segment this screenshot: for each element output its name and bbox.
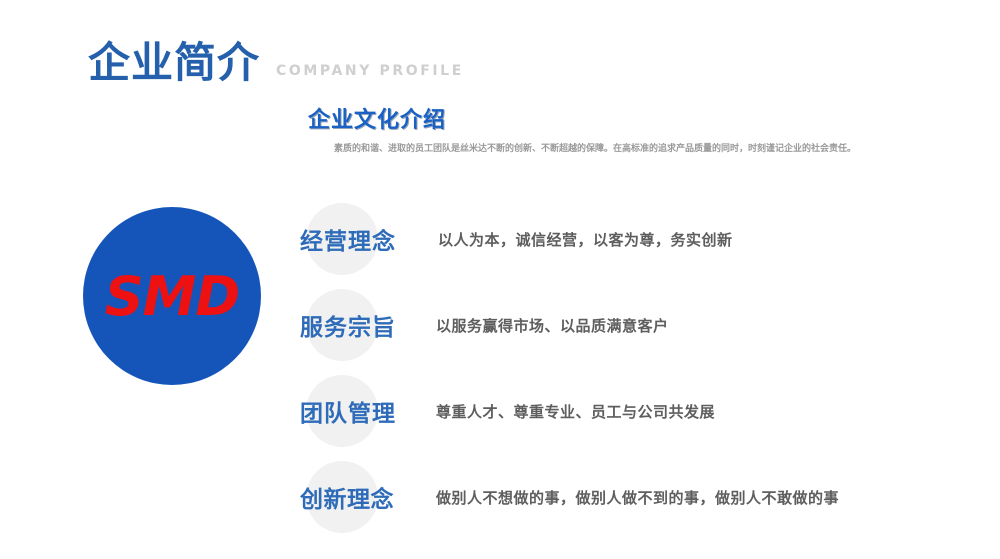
list-item: 经营理念 以人为本，诚信经营，以客为尊，务实创新 [300,196,950,282]
section-paragraph: 素质的和谐、进取的员工团队是丝米达不断的创新、不断超越的保障。在高标准的追求产品… [308,142,888,158]
diagonal-stripe-blue-icon [0,0,163,39]
value-text: 以服务赢得市场、以品质满意客户 [436,315,669,336]
section-heading: 企业文化介绍 [308,108,908,134]
value-label: 创新理念 [300,480,418,514]
list-item: 创新理念 做别人不想做的事，做别人做不到的事，做别人不敢做的事 [300,454,950,540]
company-logo: SMD [83,207,261,385]
culture-values-list: 经营理念 以人为本，诚信经营，以客为尊，务实创新 服务宗旨 以服务赢得市场、以品… [300,196,950,540]
page-subtitle: COMPANY PROFILE [276,63,464,79]
list-item: 团队管理 尊重人才、尊重专业、员工与公司共发展 [300,368,950,454]
value-label: 服务宗旨 [300,308,418,342]
value-text: 尊重人才、尊重专业、员工与公司共发展 [436,401,715,422]
slide-header: 企业简介 COMPANY PROFILE [88,42,464,84]
value-label: 团队管理 [300,394,418,428]
culture-section: 企业文化介绍 素质的和谐、进取的员工团队是丝米达不断的创新、不断超越的保障。在高… [308,108,908,158]
value-label: 经营理念 [300,222,418,256]
value-text: 以人为本，诚信经营，以客为尊，务实创新 [438,229,733,250]
value-text: 做别人不想做的事，做别人做不到的事，做别人不敢做的事 [436,487,839,508]
logo-text: SMD [105,265,239,328]
page-title: 企业简介 [88,42,260,84]
slide-canvas: 企业简介 COMPANY PROFILE SMD 企业文化介绍 素质的和谐、进取… [0,0,1000,559]
list-item: 服务宗旨 以服务赢得市场、以品质满意客户 [300,282,950,368]
